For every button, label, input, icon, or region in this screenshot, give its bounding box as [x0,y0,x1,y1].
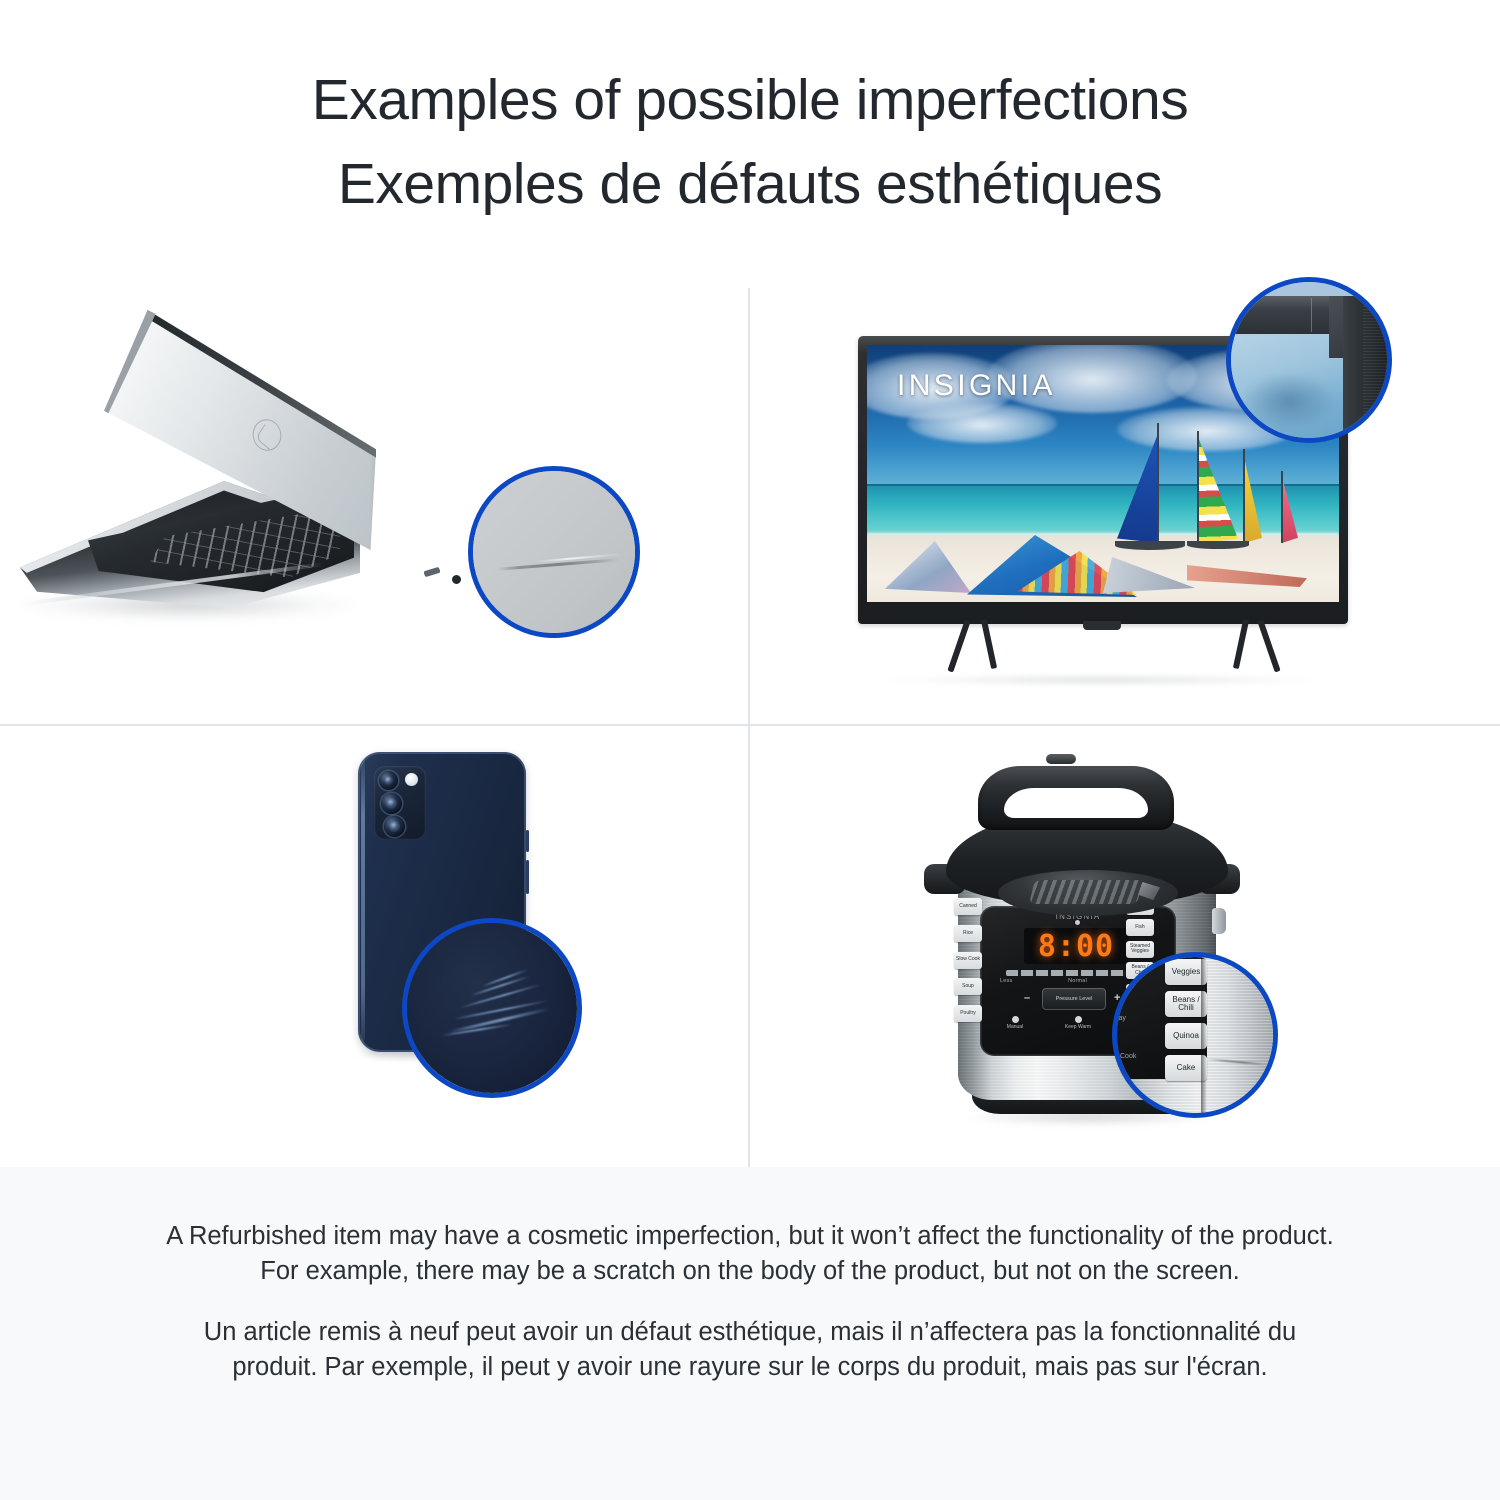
smartphone-image [0,726,748,1167]
refurbished-imperfections-infographic: Examples of possible imperfections Exemp… [0,0,1500,1500]
magnifier-surface [473,471,635,633]
screen-sailboat-mast [1243,449,1245,543]
screen-sailboat-mast [1157,423,1159,545]
laptop-audio-port [452,575,461,584]
page-title: Examples of possible imperfections Exemp… [0,58,1500,226]
laptop-image [0,288,500,724]
cooker-button-keep-warm[interactable]: Keep Warm [1059,1016,1097,1031]
button-label: Manual [1007,1024,1023,1030]
camera-flash-icon [405,773,418,786]
page-title-english: Examples of possible imperfections [0,58,1500,142]
button-label: Keep Warm [1065,1024,1091,1030]
cooker-button-poultry[interactable]: Poultry [954,1005,982,1022]
smartphone-edge-highlight [361,758,365,1044]
magnifier-ghost-label-slow-cook: w Cook [1113,1053,1136,1060]
button-led-icon [1075,1016,1082,1023]
level-label-less: Less [1000,978,1012,984]
cooker-button-soup[interactable]: Soup [954,978,982,995]
smartphone-scratch-magnifier [402,918,582,1098]
smartphone-illustration [0,726,748,1167]
screen-hull [1187,541,1249,549]
footer-description: A Refurbished item may have a cosmetic i… [0,1167,1500,1500]
magnifier-surface [407,923,577,1093]
camera-lens-icon [384,816,405,837]
laptop-usb-port [423,567,440,577]
page-title-french: Exemples de défauts esthétiques [0,142,1500,226]
button-led-icon [1012,1016,1019,1023]
example-cell-smartphone [0,726,748,1167]
magnifier-panel-edge [1201,957,1207,1118]
cooker-lid-plate [998,870,1178,916]
camera-lens-icon [381,793,402,814]
television-shadow [888,674,1318,686]
laptop-scratch-magnifier [468,466,640,638]
smartphone-power-button [526,860,529,894]
cooker-handle-opening [1004,788,1148,818]
camera-lens-glass [386,798,397,809]
television-leg-left-inner [981,619,997,669]
camera-lens-icon [379,771,398,790]
smartphone-volume-button [526,830,529,852]
level-label-normal: Normal [1068,978,1087,984]
magnifier-bezel-seam [1311,298,1312,332]
television-logo-plate [1083,621,1121,630]
camera-lens-glass [389,821,400,832]
insignia-wordmark: INSIGNIA [897,369,1056,403]
magnifier-screen-cloud [1241,372,1337,430]
magnifier-bezel-side-texture [1363,306,1391,443]
cooker-lid-handle [978,766,1174,830]
pressure-cooker-scratch-magnifier: elay w Cook Veggies Beans / Chili Quinoa… [1112,952,1278,1118]
television-leg-right-inner [1233,619,1249,669]
cooker-button-manual[interactable]: Manual [996,1016,1034,1031]
screen-cloud [907,403,1057,443]
footer-paragraph-english: A Refurbished item may have a cosmetic i… [165,1219,1335,1289]
cooker-lid-latch [1212,908,1226,934]
cooker-minus-button[interactable]: – [1024,992,1030,1004]
screen-hull [1115,541,1185,550]
cooker-led-display: 8:00 [1024,928,1128,964]
cooker-button-fish[interactable]: Fish [1126,919,1154,936]
television-bezel-magnifier [1226,277,1392,443]
cooker-left-button-column: Canned Rice Slow Cook Soup Poultry [954,898,982,1022]
cooker-button-veggies[interactable]: Steamed Veggies [1126,941,1154,958]
footer-paragraph-french: Un article remis à neuf peut avoir un dé… [165,1315,1335,1385]
screen-horizon-line [867,484,1339,486]
example-cell-laptop [0,288,748,724]
screen-sailboat-mast [1197,431,1199,543]
cooker-status-indicator [1075,920,1080,925]
television-leg-right-outer [1257,619,1280,672]
cooker-timer-value: 8:00 [1038,929,1114,964]
cooker-lid-vent-grille [1029,880,1143,904]
cooker-handle-knob [1046,754,1076,764]
cooker-pressure-level-button[interactable]: Pressure Level [1042,988,1106,1010]
cooker-button-rice[interactable]: Rice [954,925,982,942]
camera-module-icon [374,766,426,840]
camera-lens-glass [384,776,393,785]
cooker-button-slow-cook[interactable]: Slow Cook [954,952,982,969]
laptop-illustration [0,288,748,724]
magnifier-ghost-label-delay: elay [1113,1015,1126,1022]
screen-sailboat-mast [1281,471,1283,543]
cooker-button-canned[interactable]: Canned [954,898,982,915]
television-leg-left-outer [947,619,970,672]
